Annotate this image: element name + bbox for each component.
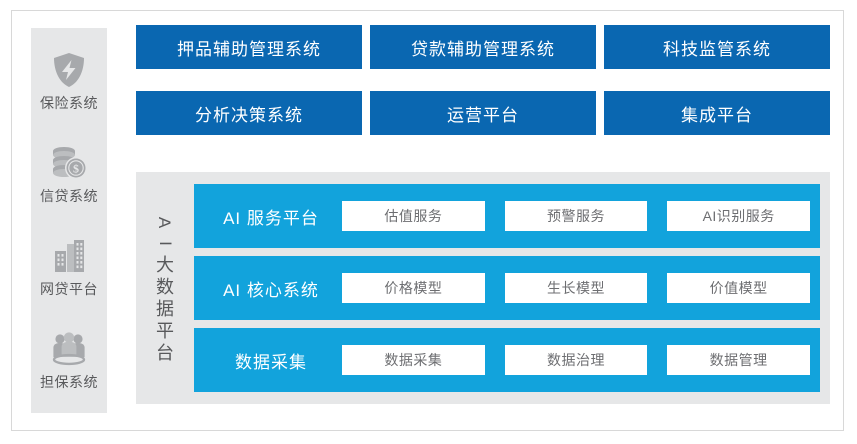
ai-cell-data-collection[interactable]: 数据采集 [342,345,485,375]
buildings-icon [49,236,89,276]
vertical-char: I [156,241,173,246]
vertical-char: 大 [156,256,174,274]
ai-bigdata-platform-panel: A I 大 数 据 平 台 AI 服务平台 估值服务 预警服务 AI识别服务 A… [136,172,830,404]
top-system-buttons: 押品辅助管理系统 贷款辅助管理系统 科技监管系统 分析决策系统 运营平台 集成平… [136,25,830,135]
system-button-analysis-decision[interactable]: 分析决策系统 [136,91,362,135]
ai-cell-data-governance[interactable]: 数据治理 [505,345,648,375]
sidebar-item-label: 担保系统 [40,373,98,391]
sidebar-item-insurance[interactable]: 保险系统 [31,50,107,112]
shield-bolt-icon [49,50,89,90]
ai-cell-price-model[interactable]: 价格模型 [342,273,485,303]
ai-cell-alert-service[interactable]: 预警服务 [505,201,648,231]
vertical-char: 平 [156,322,174,340]
system-button-tech-supervision[interactable]: 科技监管系统 [604,25,830,69]
ai-row-service-platform: AI 服务平台 估值服务 预警服务 AI识别服务 [194,184,820,248]
system-button-row-2: 分析决策系统 运营平台 集成平台 [136,91,830,135]
ai-row-title: AI 服务平台 [194,204,342,229]
vertical-char: 据 [156,300,174,318]
ai-platform-rows: AI 服务平台 估值服务 预警服务 AI识别服务 AI 核心系统 价格模型 生长… [194,184,820,392]
architecture-diagram: 保险系统 $ 信贷 [0,0,857,444]
panel-vertical-label: A I 大 数 据 平 台 [136,184,194,392]
ai-row-title: 数据采集 [194,348,342,373]
vertical-char: 台 [156,344,174,362]
coins-dollar-icon: $ [49,143,89,183]
ai-row-core-system: AI 核心系统 价格模型 生长模型 价值模型 [194,256,820,320]
vertical-char: 数 [156,278,174,296]
ai-cell-data-management[interactable]: 数据管理 [667,345,810,375]
system-button-loan-management[interactable]: 贷款辅助管理系统 [370,25,596,69]
system-button-integration-platform[interactable]: 集成平台 [604,91,830,135]
vertical-char: A [157,217,174,228]
sidebar-item-credit[interactable]: $ 信贷系统 [31,143,107,205]
svg-text:$: $ [73,161,79,175]
sidebar-item-label: 网贷平台 [40,280,98,298]
system-button-collateral-management[interactable]: 押品辅助管理系统 [136,25,362,69]
ai-cell-growth-model[interactable]: 生长模型 [505,273,648,303]
ai-row-cells: 估值服务 预警服务 AI识别服务 [342,201,810,231]
ai-cell-ai-recognition-service[interactable]: AI识别服务 [667,201,810,231]
ai-cell-value-model[interactable]: 价值模型 [667,273,810,303]
sidebar-item-label: 信贷系统 [40,187,98,205]
ai-row-data-collection: 数据采集 数据采集 数据治理 数据管理 [194,328,820,392]
ai-row-title: AI 核心系统 [194,276,342,301]
sidebar-item-label: 保险系统 [40,94,98,112]
people-group-icon [49,329,89,369]
sidebar: 保险系统 $ 信贷 [31,28,107,413]
ai-row-cells: 价格模型 生长模型 价值模型 [342,273,810,303]
system-button-row-1: 押品辅助管理系统 贷款辅助管理系统 科技监管系统 [136,25,830,69]
sidebar-item-guarantee[interactable]: 担保系统 [31,329,107,391]
sidebar-item-online-loan[interactable]: 网贷平台 [31,236,107,298]
system-button-operations-platform[interactable]: 运营平台 [370,91,596,135]
ai-row-cells: 数据采集 数据治理 数据管理 [342,345,810,375]
ai-cell-valuation-service[interactable]: 估值服务 [342,201,485,231]
